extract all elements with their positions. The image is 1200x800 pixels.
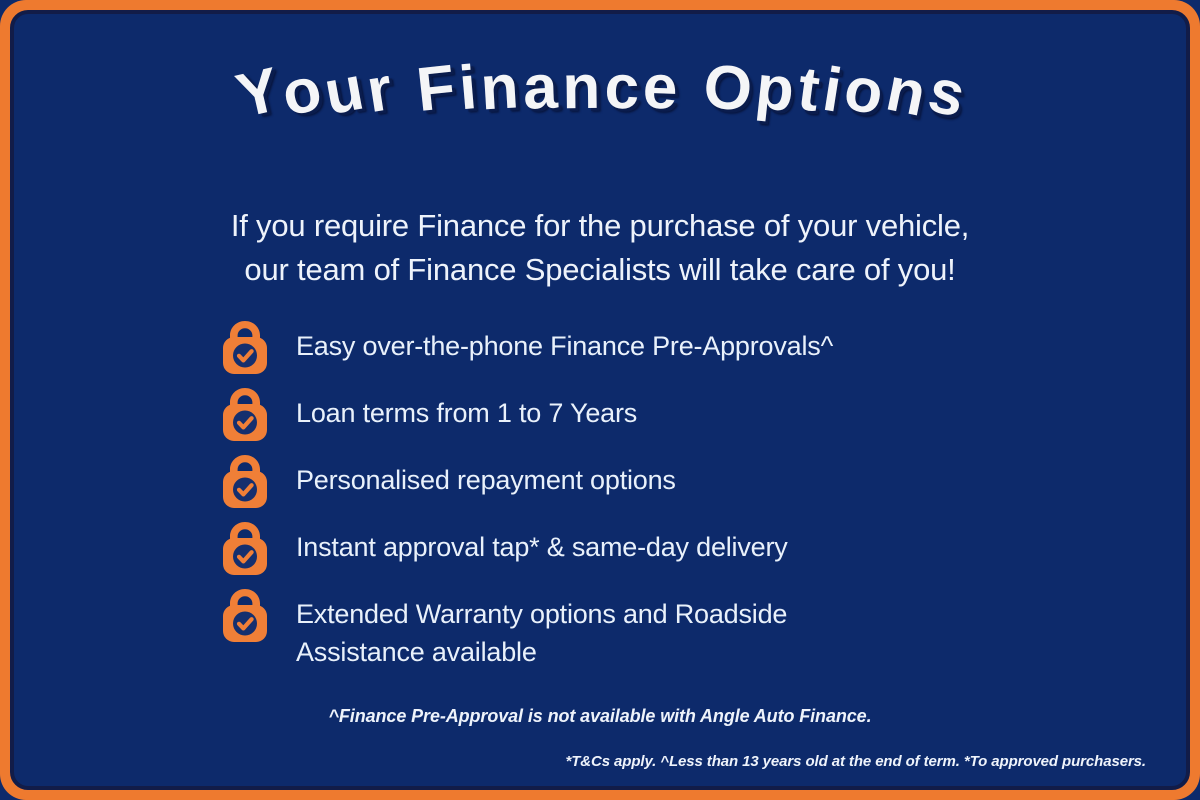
title-letter [680, 52, 700, 124]
banner-subheading: If you require Finance for the purchase … [14, 204, 1186, 292]
subheading-line-2: our team of Finance Specialists will tak… [14, 248, 1186, 292]
title-letter: n [479, 51, 520, 124]
benefit-label: Easy over-the-phone Finance Pre-Approval… [296, 317, 833, 365]
page-title: Your Finance Options [14, 52, 1186, 172]
title-letter: s [922, 55, 971, 132]
padlock-check-icon [218, 384, 272, 442]
title-letter: n [880, 54, 930, 131]
padlock-check-icon [218, 451, 272, 509]
title-letter: p [753, 52, 797, 127]
title-letter: c [604, 52, 638, 123]
finance-options-banner: Your Finance Options If you require Fina… [0, 0, 1200, 800]
title-letter: u [319, 53, 368, 129]
benefit-item: Instant approval tap* & same-day deliver… [218, 518, 1118, 585]
benefit-item: Loan terms from 1 to 7 Years [218, 384, 1118, 451]
banner-inner-panel: Your Finance Options If you require Fina… [10, 10, 1190, 790]
padlock-check-icon [218, 585, 272, 643]
padlock-check-icon [218, 518, 272, 576]
title-letter: a [522, 52, 558, 124]
title-letter: t [794, 53, 823, 126]
benefit-item: Personalised repayment options [218, 451, 1118, 518]
title-letter: e [642, 52, 678, 124]
title-letter: o [276, 54, 326, 131]
title-letter [391, 53, 416, 126]
benefit-label: Extended Warranty options and Roadside A… [296, 585, 906, 671]
benefits-list: Easy over-the-phone Finance Pre-Approval… [218, 317, 1118, 675]
benefit-label: Loan terms from 1 to 7 Years [296, 384, 637, 432]
benefit-item: Extended Warranty options and Roadside A… [218, 585, 1118, 675]
subheading-line-1: If you require Finance for the purchase … [14, 204, 1186, 248]
benefit-item: Easy over-the-phone Finance Pre-Approval… [218, 317, 1118, 384]
title-letter: i [457, 52, 479, 124]
title-letter: n [562, 52, 600, 123]
title-letter: i [818, 54, 845, 127]
padlock-check-icon [218, 317, 272, 375]
footnote-secondary: *T&Cs apply. ^Less than 13 years old at … [565, 753, 1146, 770]
title-letter: F [414, 52, 458, 127]
benefit-label: Personalised repayment options [296, 451, 676, 499]
title-letter: Y [230, 54, 285, 132]
title-letter: O [701, 51, 754, 126]
title-letter: r [362, 53, 396, 127]
footnote-primary: ^Finance Pre-Approval is not available w… [14, 706, 1186, 727]
benefit-label: Instant approval tap* & same-day deliver… [296, 518, 788, 566]
title-letter: o [839, 53, 888, 129]
